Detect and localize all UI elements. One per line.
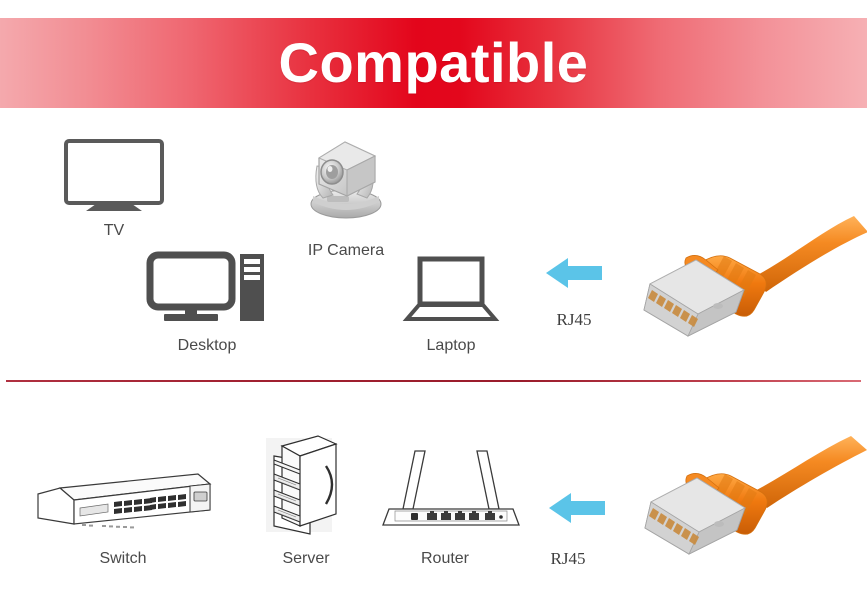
connector-label-bottom: RJ45 [528,549,608,569]
device-server [266,434,346,536]
tv-icon [62,138,166,214]
device-ip-camera [301,136,391,221]
connector-label-top: RJ45 [534,310,614,330]
section-divider [6,380,861,382]
laptop-icon [405,257,497,323]
device-label-server: Server [256,550,356,568]
device-tv [62,138,166,214]
arrow-left-top [544,257,604,289]
desktop-icon [148,253,266,325]
device-label-ip-camera: IP Camera [286,242,406,260]
switch-icon [34,472,212,538]
server-icon [266,434,346,536]
device-label-tv: TV [62,222,166,240]
rj45-cable-bottom [645,440,867,590]
device-label-router: Router [395,550,495,568]
device-desktop [148,253,266,325]
device-switch [34,472,212,538]
page-title: Compatible [279,35,589,91]
rj45-cable-top [640,218,867,348]
header-banner: Compatible [0,18,867,108]
ip-camera-icon [301,136,391,221]
device-label-desktop: Desktop [148,337,266,355]
arrow-left-bottom [547,492,607,524]
device-laptop [405,257,497,323]
device-router [381,443,521,533]
device-label-laptop: Laptop [399,337,503,355]
router-icon [381,443,521,533]
device-label-switch: Switch [34,550,212,568]
